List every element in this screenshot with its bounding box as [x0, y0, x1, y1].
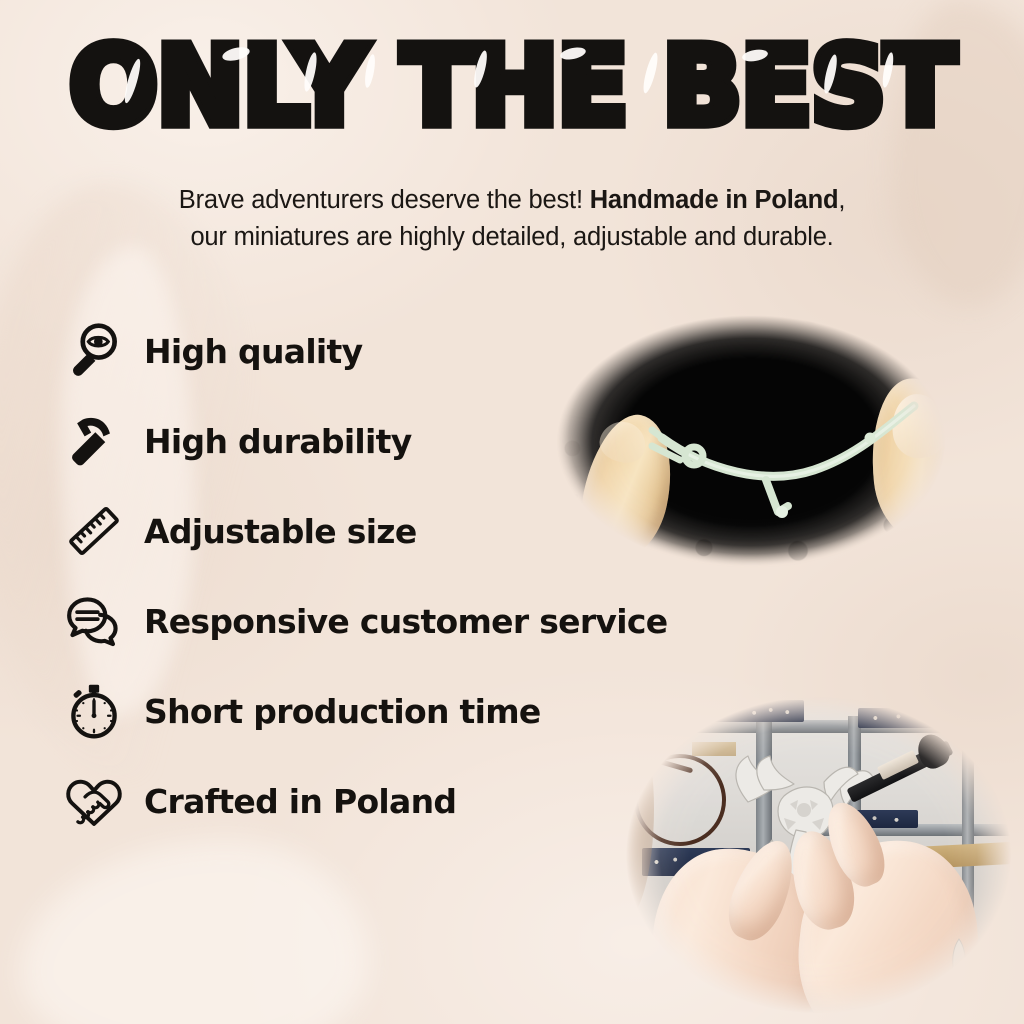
handshake-heart-icon	[62, 769, 126, 833]
miniature-tray-upper-right	[858, 708, 990, 728]
subtitle-line-1-bold: Handmade in Poland	[590, 186, 839, 214]
subtitle: Brave adventurers deserve the best! Hand…	[0, 182, 1024, 256]
headline-container: ONLY THE BEST	[0, 34, 1024, 138]
feature-label: Crafted in Poland	[144, 782, 456, 821]
miniature-tray-top	[708, 700, 804, 722]
subtitle-line-2: our miniatures are highly detailed, adju…	[190, 223, 833, 251]
subtitle-line-1-post: ,	[838, 186, 845, 214]
flexible-miniature-photo	[516, 282, 986, 602]
feature-label: Short production time	[144, 692, 541, 731]
ruler-icon	[62, 499, 126, 563]
stopwatch-icon	[62, 679, 126, 743]
product-feature-banner: ONLY THE BEST Brave adventurers deserve …	[0, 0, 1024, 1024]
flexing-miniature-part	[646, 400, 936, 520]
speech-bubbles-icon	[62, 589, 126, 653]
feature-label: Responsive customer service	[144, 602, 667, 641]
hammer-icon	[62, 409, 126, 473]
page-title: ONLY THE BEST	[69, 32, 954, 140]
paper-texture-blob-bottom	[20, 840, 368, 1024]
feature-label: High quality	[144, 332, 362, 371]
feature-label: Adjustable size	[144, 512, 417, 551]
subtitle-line-1-pre: Brave adventurers deserve the best!	[179, 186, 590, 214]
small-miniature-figure	[946, 936, 972, 980]
magnifier-eye-icon	[62, 319, 126, 383]
painting-workshop-photo	[596, 672, 1024, 1024]
feature-label: High durability	[144, 422, 412, 461]
